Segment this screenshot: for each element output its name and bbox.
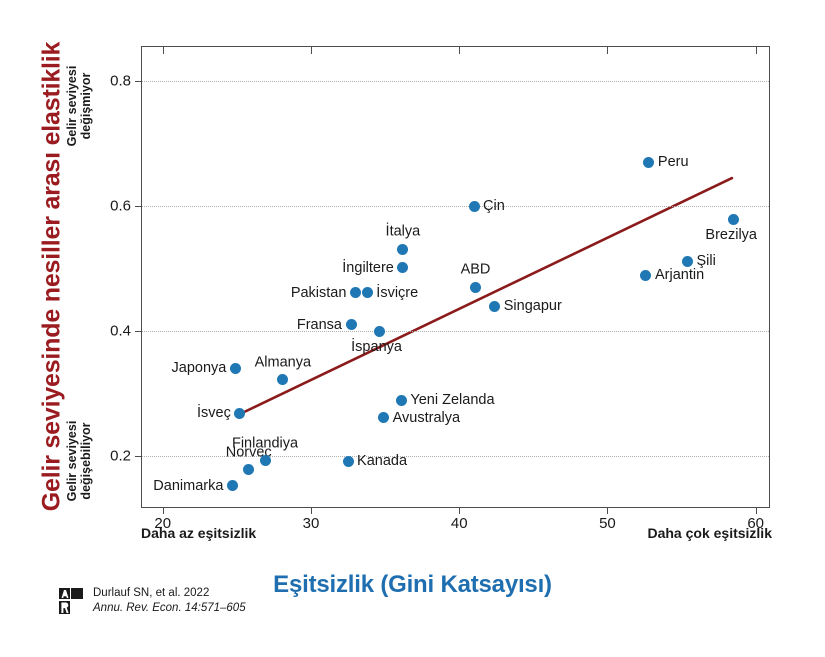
y-tick-label: 0.8: [110, 73, 131, 90]
data-point-label: İngiltere: [342, 261, 394, 276]
y-anchor-top-line2: değişmiyor: [79, 26, 93, 186]
x-tick-mark: [756, 507, 757, 514]
data-point[interactable]: [374, 326, 385, 337]
y-tick-mark: [135, 81, 142, 82]
x-tick-label: 40: [451, 515, 468, 532]
chart-y-axis-main-title: Gelir seviyesinde nesiller arası elastik…: [38, 17, 67, 537]
data-point-label: Kanada: [357, 454, 407, 469]
data-point-label: İsviçre: [376, 286, 418, 301]
annual-reviews-logo-icon: [58, 587, 84, 615]
data-point-label: Pakistan: [291, 286, 347, 301]
data-point-label: İtalya: [386, 225, 421, 240]
x-tick-mark-top: [607, 47, 608, 54]
x-tick-mark-top: [163, 47, 164, 54]
data-point-label: Peru: [658, 155, 689, 170]
x-tick-mark: [163, 507, 164, 514]
scatter-plot-area: 0.20.40.60.82030405060DanimarkaNorveçFin…: [141, 46, 770, 508]
data-point[interactable]: [234, 408, 245, 419]
x-tick-mark-top: [311, 47, 312, 54]
data-point-label: Japonya: [172, 361, 227, 376]
y-anchor-top-line1: Gelir seviyesi: [65, 26, 79, 186]
data-point[interactable]: [260, 455, 271, 466]
data-point[interactable]: [469, 201, 480, 212]
data-point[interactable]: [640, 270, 651, 281]
y-axis-anchor-bottom: Gelir seviyesi değişebiliyor: [65, 381, 93, 541]
data-point[interactable]: [362, 287, 373, 298]
gridline-y: [142, 331, 769, 332]
gridline-y: [142, 81, 769, 82]
data-point-label: Singapur: [504, 299, 562, 314]
data-point-label: İspanya: [351, 340, 402, 355]
data-point-label: ABD: [461, 263, 491, 278]
data-point[interactable]: [350, 287, 361, 298]
data-point[interactable]: [346, 319, 357, 330]
y-tick-label: 0.2: [110, 447, 131, 464]
y-anchor-bottom-line1: Gelir seviyesi: [65, 381, 79, 541]
citation-line-1: Durlauf SN, et al. 2022: [93, 586, 246, 601]
y-axis-anchor-top: Gelir seviyesi değişmiyor: [65, 26, 93, 186]
data-point-label: Yeni Zelanda: [410, 393, 494, 408]
data-point-label: Çin: [483, 199, 505, 214]
data-point-label: Arjantin: [655, 268, 704, 283]
data-point[interactable]: [243, 464, 254, 475]
x-tick-label: 30: [303, 515, 320, 532]
citation-block: Durlauf SN, et al. 2022 Annu. Rev. Econ.…: [58, 586, 246, 616]
data-point-label: İsveç: [197, 406, 231, 421]
data-point[interactable]: [397, 244, 408, 255]
citation-line-2: Annu. Rev. Econ. 14:571–605: [93, 601, 246, 616]
data-point[interactable]: [397, 262, 408, 273]
data-point[interactable]: [227, 480, 238, 491]
x-axis-caption-less-inequality: Daha az eşitsizlik: [141, 525, 256, 541]
data-point[interactable]: [489, 301, 500, 312]
data-point-label: Şili: [696, 254, 715, 269]
citation-text: Durlauf SN, et al. 2022 Annu. Rev. Econ.…: [93, 586, 246, 616]
data-point-label: Fransa: [297, 317, 342, 332]
x-tick-mark: [311, 507, 312, 514]
x-tick-mark: [607, 507, 608, 514]
data-point[interactable]: [728, 214, 739, 225]
y-tick-label: 0.6: [110, 198, 131, 215]
x-tick-mark: [459, 507, 460, 514]
data-point[interactable]: [378, 412, 389, 423]
data-point-label: Finlandiya: [232, 436, 298, 451]
data-point[interactable]: [643, 157, 654, 168]
data-point-label: Danimarka: [153, 479, 223, 494]
x-axis-caption-more-inequality: Daha çok eşitsizlik: [647, 525, 772, 541]
data-point[interactable]: [230, 363, 241, 374]
x-tick-label: 50: [599, 515, 616, 532]
data-point[interactable]: [396, 395, 407, 406]
y-tick-mark: [135, 206, 142, 207]
data-point[interactable]: [277, 374, 288, 385]
data-point-label: Brezilya: [705, 228, 757, 243]
y-tick-label: 0.4: [110, 322, 131, 339]
data-point-label: Avustralya: [393, 410, 460, 425]
y-anchor-bottom-line2: değişebiliyor: [79, 381, 93, 541]
data-point[interactable]: [470, 282, 481, 293]
data-point[interactable]: [682, 256, 693, 267]
x-tick-mark-top: [756, 47, 757, 54]
data-point-label: Almanya: [255, 355, 311, 370]
x-tick-mark-top: [459, 47, 460, 54]
y-tick-mark: [135, 331, 142, 332]
gridline-y: [142, 206, 769, 207]
data-point[interactable]: [343, 456, 354, 467]
y-tick-mark: [135, 456, 142, 457]
